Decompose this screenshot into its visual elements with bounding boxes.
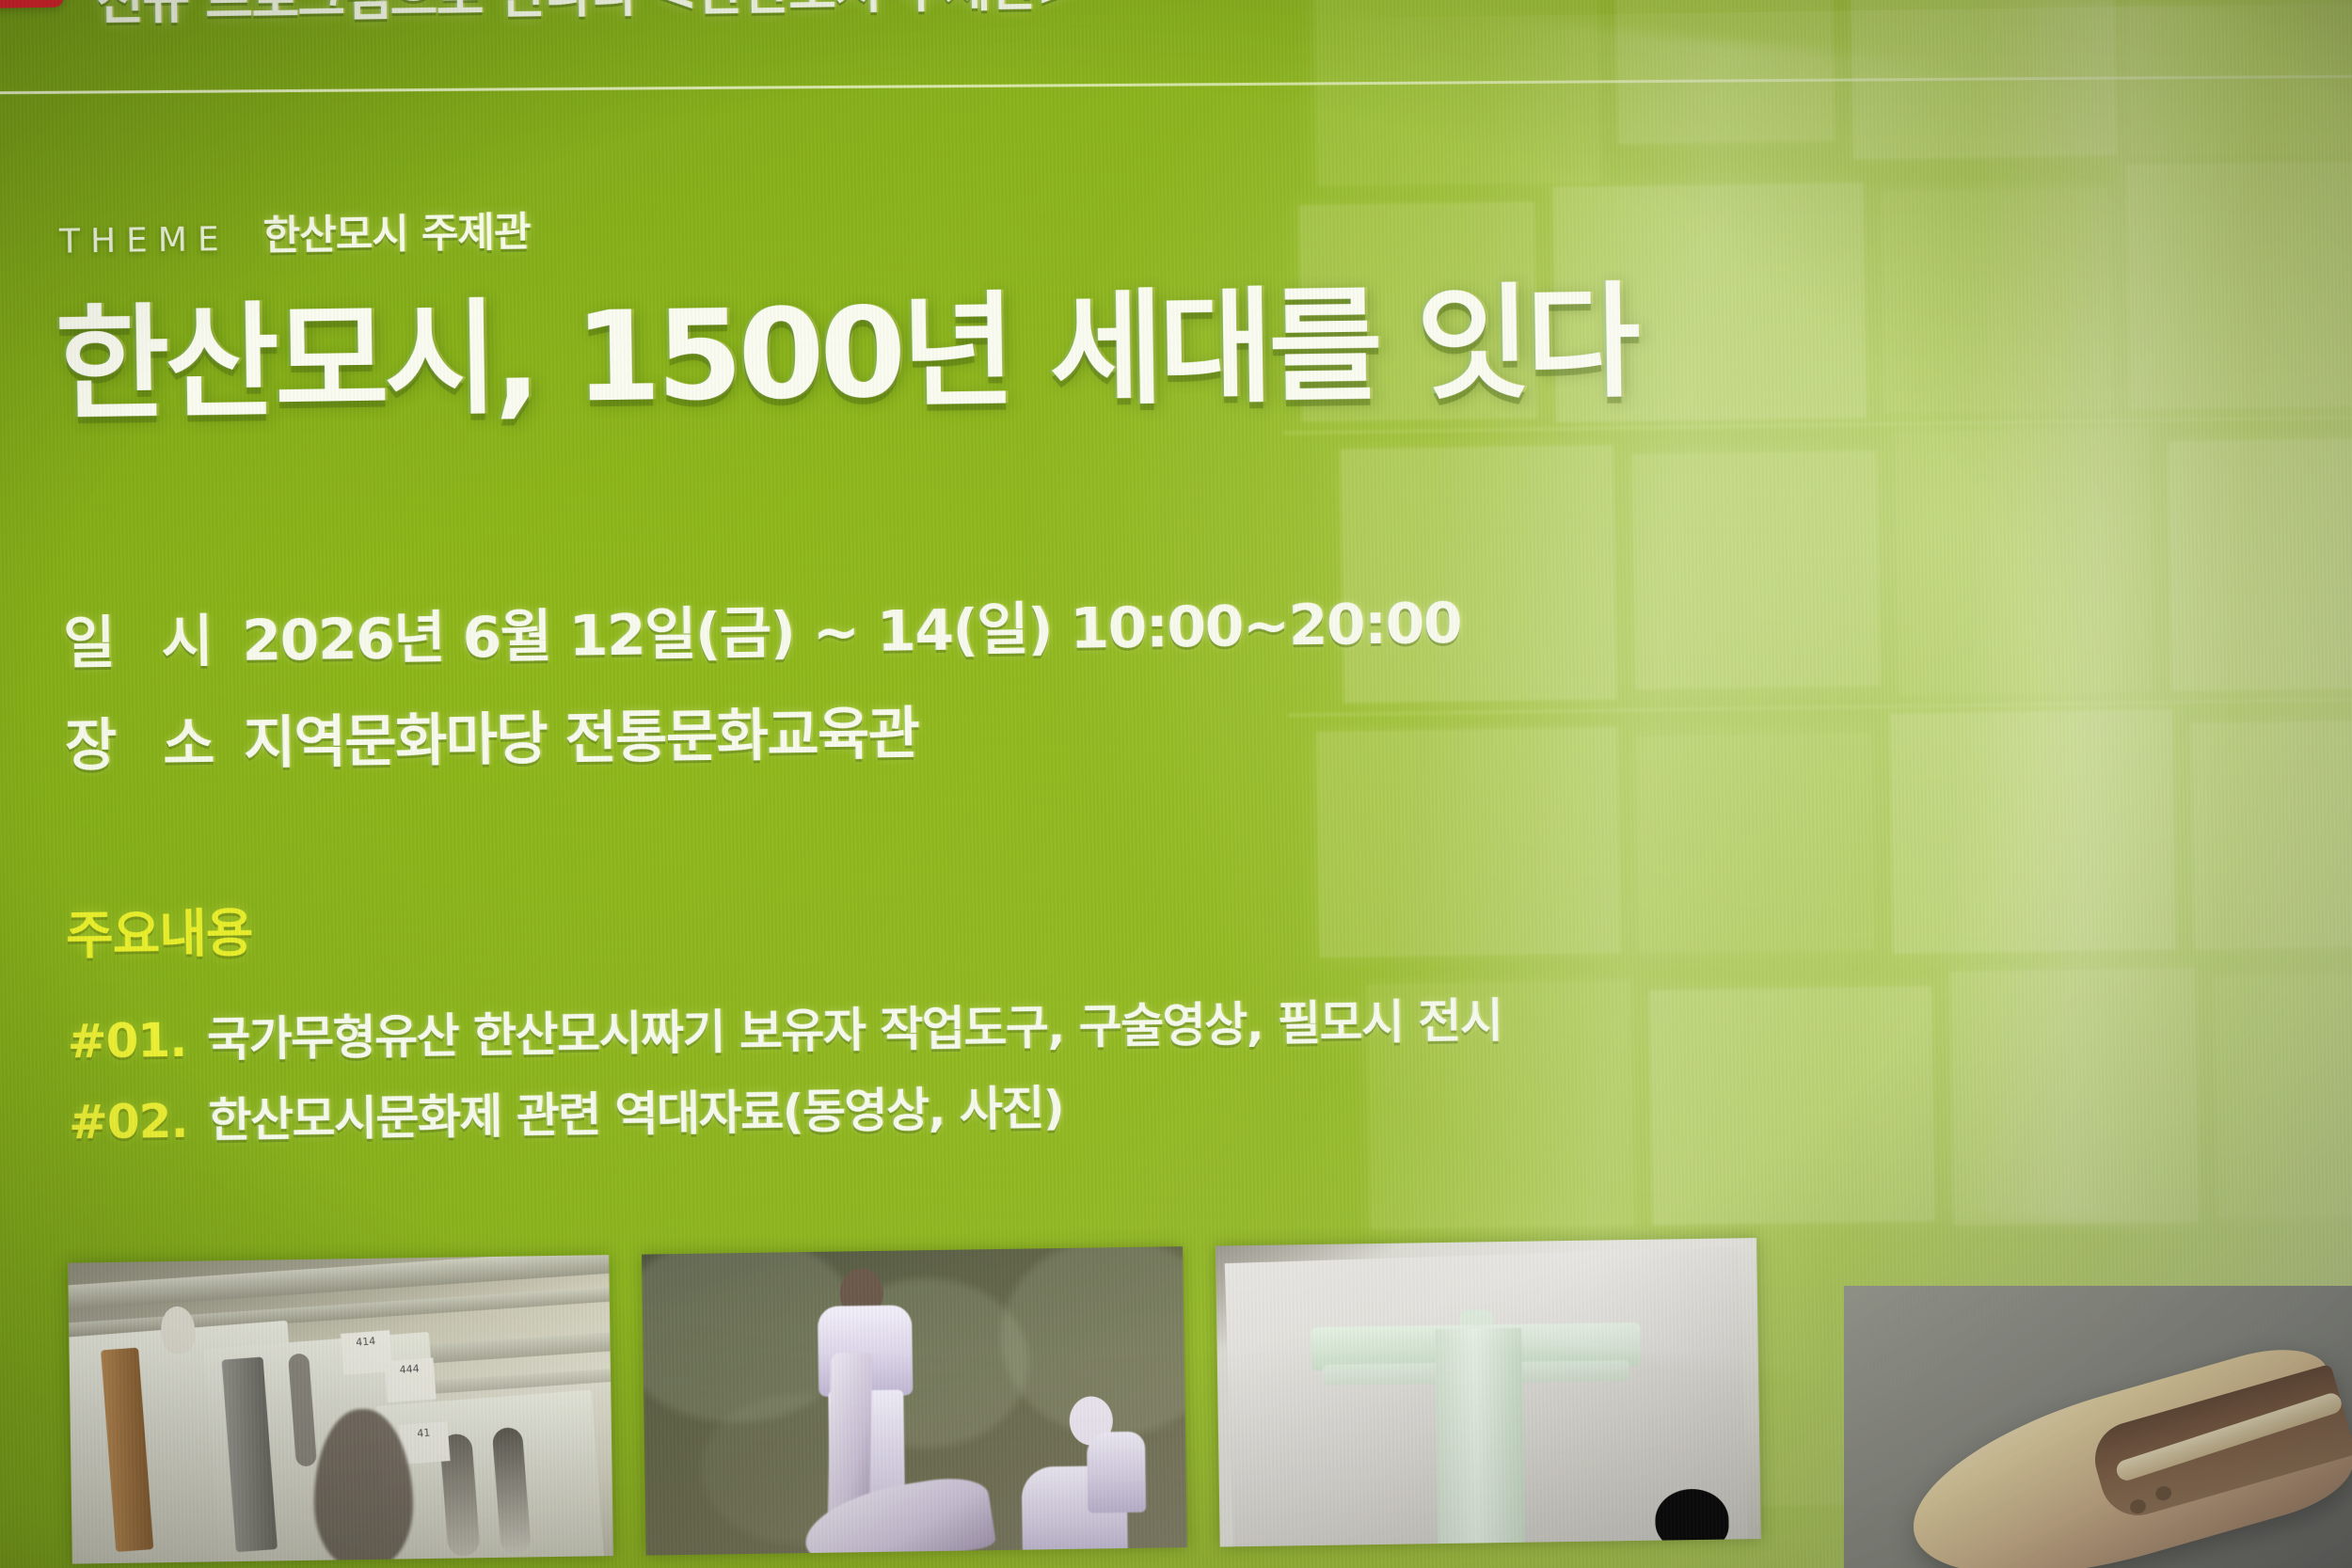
highlight-text-02: 한산모시문화제 관련 역대자료(동영상, 사진) [208, 1070, 1064, 1150]
event-datetime-row: 일 시 2026년 6월 12일(금) ~ 14(일) 10:00~20:00 [63, 578, 1462, 680]
highlight-number-02: #02. [69, 1094, 188, 1150]
photo-ramie-loom-artifact-panel [1216, 1238, 1761, 1546]
header-title: 신규 프로그램으로 만나다 <한산모시 주제관> [96, 0, 1079, 34]
slide-header: 02 신규 프로그램으로 만나다 <한산모시 주제관> [0, 0, 2352, 94]
photo-strip: 414 444 41 [68, 1238, 1761, 1564]
projected-slide-photo: 02 신규 프로그램으로 만나다 <한산모시 주제관> THEME 한산모시 주… [0, 0, 2352, 1568]
theme-kicker: THEME [59, 220, 230, 261]
event-info-block: 일 시 2026년 6월 12일(금) ~ 14(일) 10:00~20:00 … [63, 578, 1464, 803]
theme-name: 한산모시 주제관 [262, 199, 531, 261]
event-datetime-label: 일 시 [63, 595, 243, 680]
highlight-number-01: #01. [67, 1013, 186, 1069]
theme-row: THEME 한산모시 주제관 [59, 199, 531, 264]
event-place-row: 장 소 지역문화마당 전통문화교육관 [64, 680, 1463, 783]
highlight-item-02: #02. 한산모시문화제 관련 역대자료(동영상, 사진) [68, 1064, 1503, 1153]
highlights-block: 주요내용 #01. 국가무형유산 한산모시짜기 보유자 작업도구, 구술영상, … [65, 872, 1503, 1166]
photo-ramie-weaving-tools-display-case: 414 444 41 [68, 1255, 613, 1563]
slide-headline: 한산모시, 1500년 세대를 잇다 [55, 274, 1637, 436]
case-label-2: 444 [384, 1357, 436, 1402]
event-datetime-value: 2026년 6월 12일(금) ~ 14(일) 10:00~20:00 [242, 578, 1462, 677]
event-place-label: 장 소 [64, 698, 244, 783]
event-place-value: 지역문화마당 전통문화교육관 [243, 688, 919, 780]
highlight-item-01: #01. 국가무형유산 한산모시짜기 보유자 작업도구, 구술영상, 필모시 전… [67, 983, 1502, 1072]
section-number-badge: 02 [0, 0, 63, 9]
photo-hanbok-women-ramie-cloth [642, 1246, 1187, 1555]
highlights-title: 주요내용 [65, 872, 1501, 969]
highlight-text-01: 국가무형유산 한산모시짜기 보유자 작업도구, 구술영상, 필모시 전시 [207, 983, 1502, 1069]
